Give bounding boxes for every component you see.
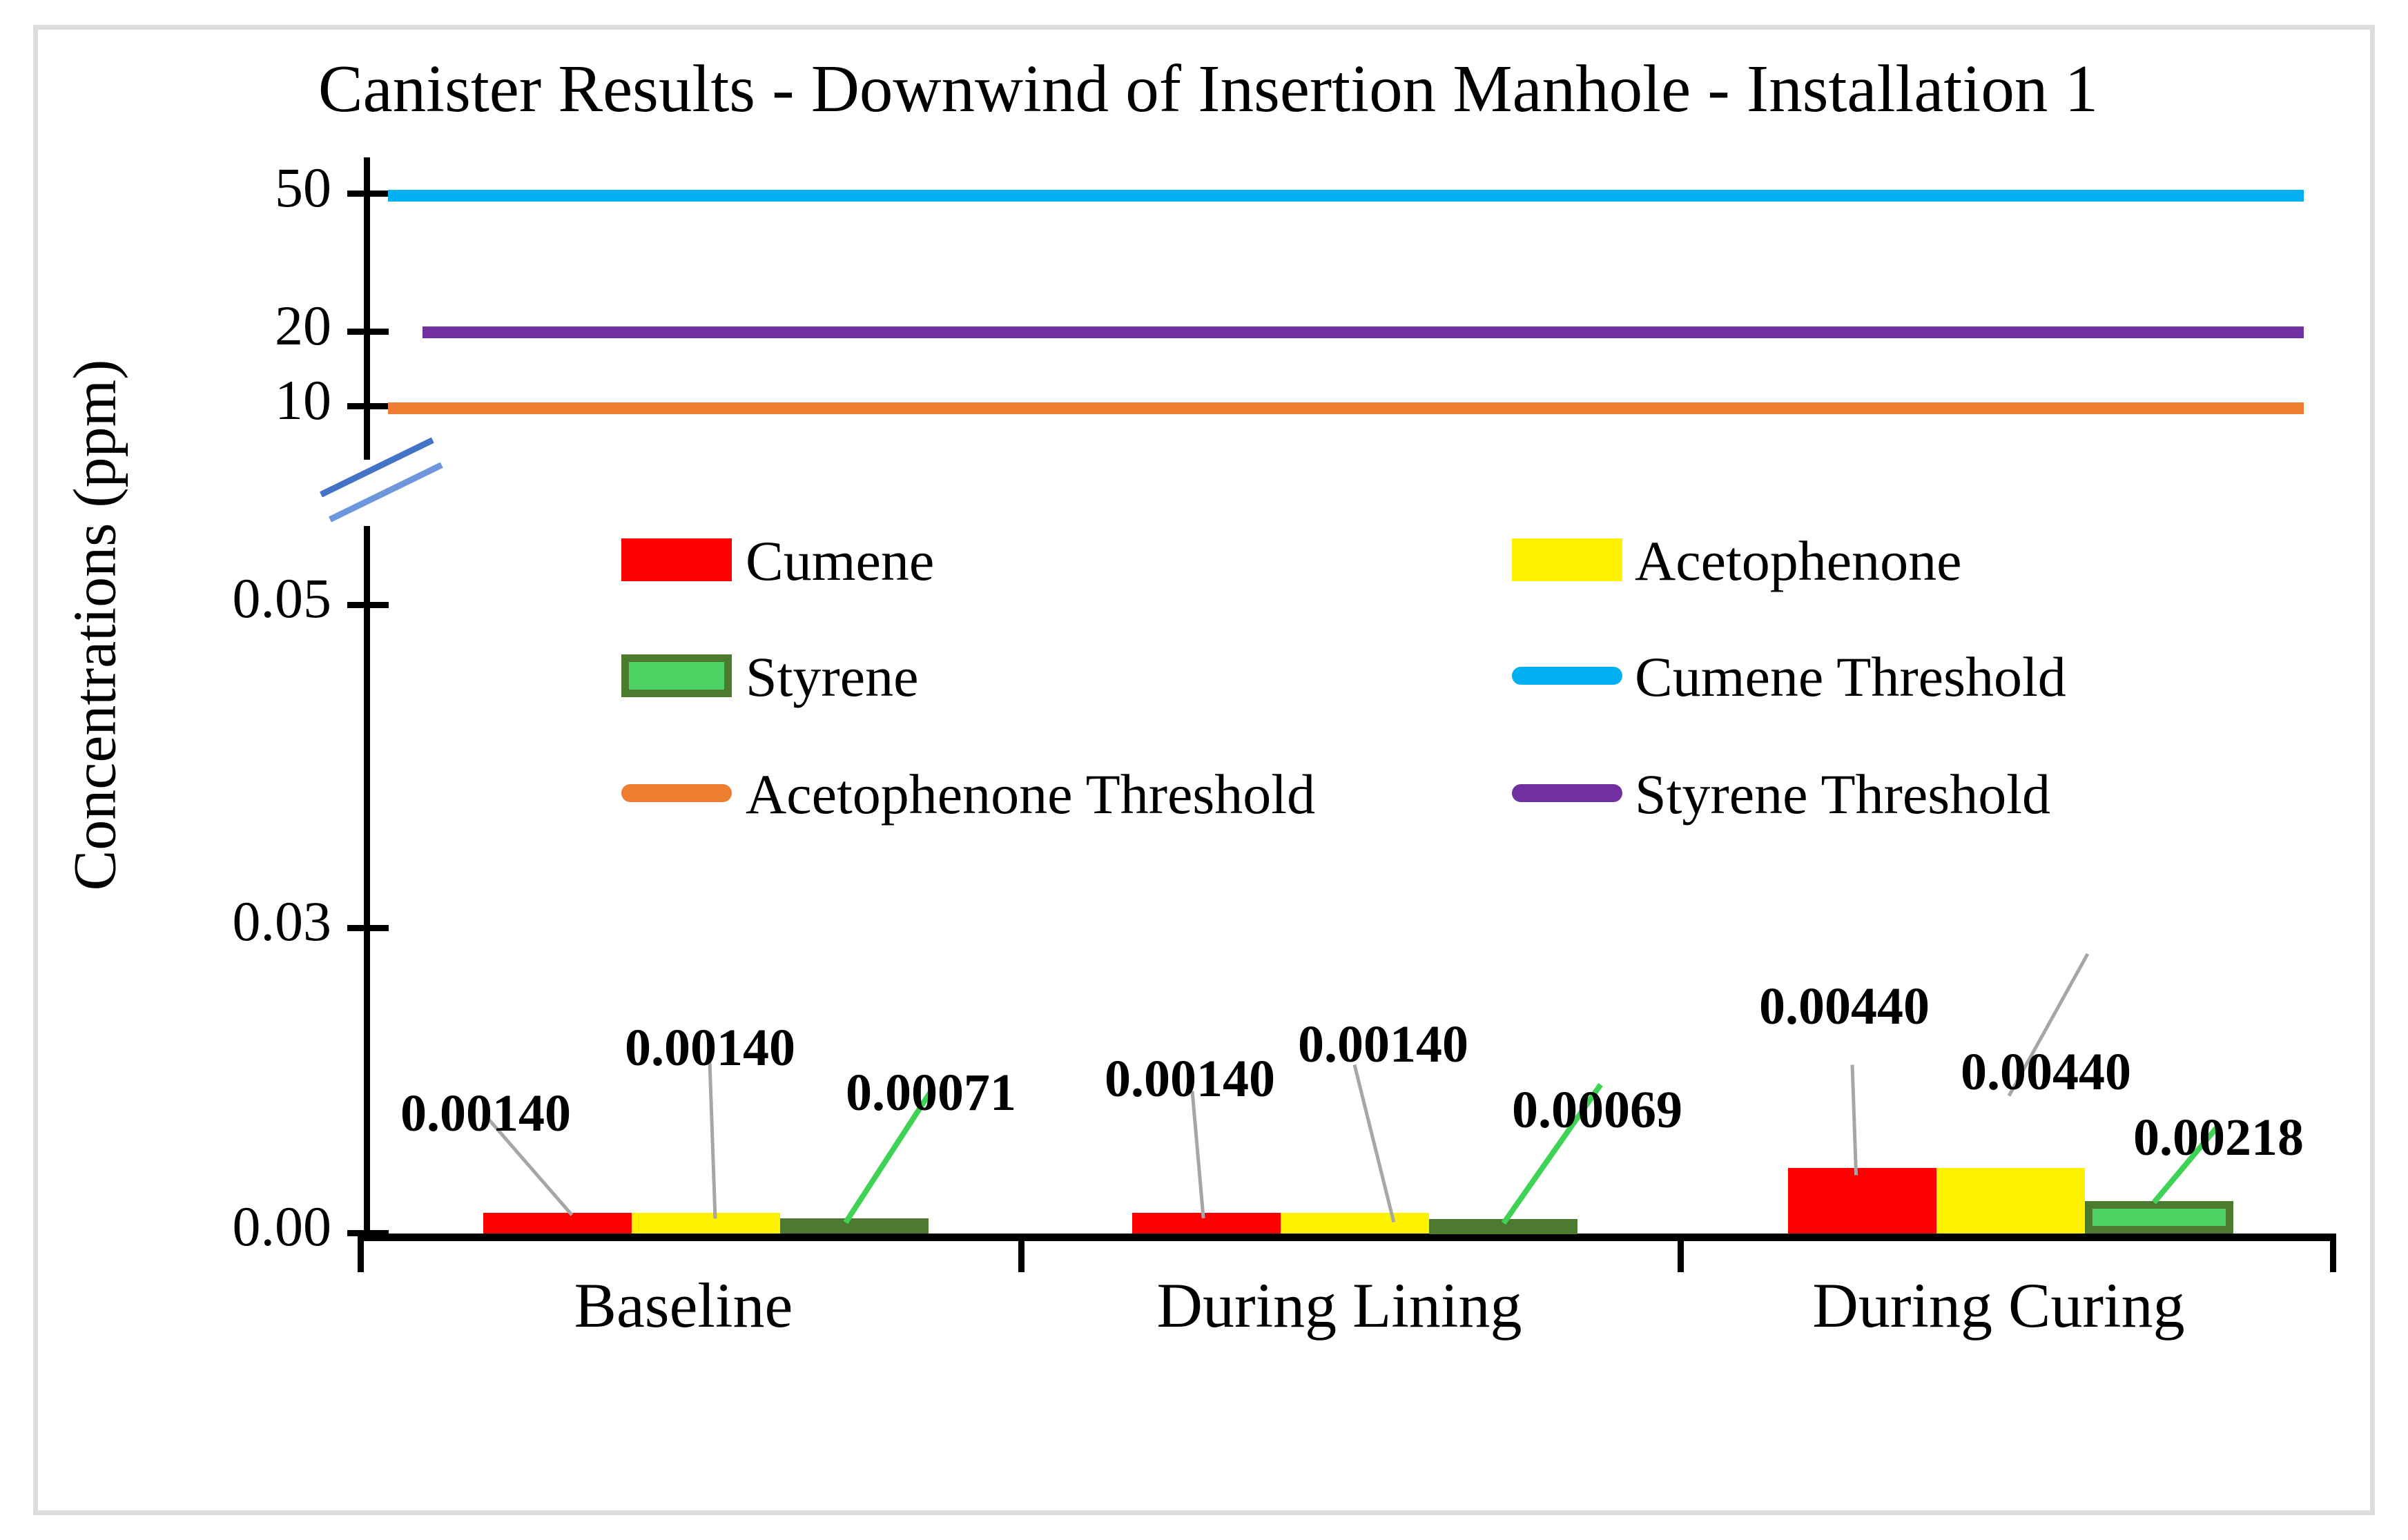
x-axis-label-baseline: Baseline (442, 1269, 925, 1342)
legend-label-cumene: Cumene (746, 529, 934, 594)
bar-during-lining-acetophenone[interactable] (1281, 1213, 1429, 1234)
data-label-baseline-acetophenone: 0.00140 (625, 1018, 795, 1078)
bar-during-lining-cumene[interactable] (1132, 1213, 1281, 1234)
x-axis-tick-end (2330, 1234, 2336, 1272)
y-axis-spine-lower (364, 526, 370, 1237)
bar-baseline-styrene[interactable] (780, 1218, 929, 1234)
y-tick-label-0-03: 0.03 (83, 889, 331, 954)
bar-baseline-cumene[interactable] (483, 1213, 632, 1234)
bar-during-curing-styrene[interactable] (2085, 1201, 2233, 1234)
y-axis-spine-upper (364, 157, 370, 460)
chart-figure: Canister Results - Downwind of Insertion… (0, 0, 2408, 1540)
legend-swatch-acetophenone-threshold-icon (621, 784, 732, 802)
y-tick-10 (347, 403, 389, 409)
legend-swatch-cumene-threshold-icon (1512, 667, 1622, 685)
chart-title: Canister Results - Downwind of Insertion… (207, 54, 2209, 124)
bar-during-curing-cumene[interactable] (1788, 1168, 1936, 1234)
x-axis-tick-start (358, 1234, 364, 1272)
data-label-baseline-styrene: 0.00071 (846, 1063, 1016, 1123)
x-axis-label-during-curing: During Curing (1757, 1269, 2240, 1342)
y-tick-label-10: 10 (124, 368, 331, 433)
bar-baseline-acetophenone[interactable] (632, 1213, 780, 1234)
y-tick-20 (347, 329, 389, 335)
x-axis-tick-cat2-cat3 (1678, 1234, 1684, 1272)
legend-label-cumene-threshold: Cumene Threshold (1635, 645, 2066, 710)
acetophenone-threshold-line (388, 402, 2304, 414)
legend-label-acetophenone-threshold: Acetophenone Threshold (746, 762, 1315, 827)
data-label-lining-cumene: 0.00140 (1105, 1049, 1275, 1109)
legend-swatch-cumene-icon (621, 538, 732, 581)
legend-label-acetophenone: Acetophenone (1635, 529, 1962, 594)
y-tick-50 (347, 191, 389, 197)
x-axis-tick-cat1-cat2 (1018, 1234, 1025, 1272)
data-label-baseline-cumene: 0.00140 (400, 1084, 571, 1144)
legend-swatch-acetophenone-icon (1512, 538, 1622, 581)
x-axis-line (358, 1234, 2336, 1241)
x-axis-label-during-lining: During Lining (1098, 1269, 1581, 1342)
legend-label-styrene: Styrene (746, 645, 918, 710)
data-label-curing-cumene: 0.00440 (1759, 977, 1930, 1037)
data-label-curing-styrene: 0.00218 (2133, 1108, 2304, 1168)
legend-swatch-styrene-icon (621, 654, 732, 697)
y-tick-label-50: 50 (124, 155, 331, 220)
y-tick-0-05 (347, 602, 389, 608)
cumene-threshold-line (388, 190, 2304, 202)
y-tick-0-03 (347, 925, 389, 931)
styrene-threshold-line (423, 326, 2304, 338)
legend-label-styrene-threshold: Styrene Threshold (1635, 762, 2050, 827)
data-label-curing-acetophenone: 0.00440 (1961, 1042, 2131, 1102)
legend-swatch-styrene-threshold-icon (1512, 784, 1622, 802)
y-tick-label-0-05: 0.05 (83, 566, 331, 631)
data-label-lining-acetophenone: 0.00140 (1298, 1015, 1468, 1075)
bar-during-curing-acetophenone[interactable] (1936, 1168, 2085, 1234)
y-tick-label-0-00: 0.00 (83, 1194, 331, 1259)
y-tick-label-20: 20 (124, 293, 331, 358)
data-label-lining-styrene: 0.00069 (1512, 1080, 1682, 1140)
